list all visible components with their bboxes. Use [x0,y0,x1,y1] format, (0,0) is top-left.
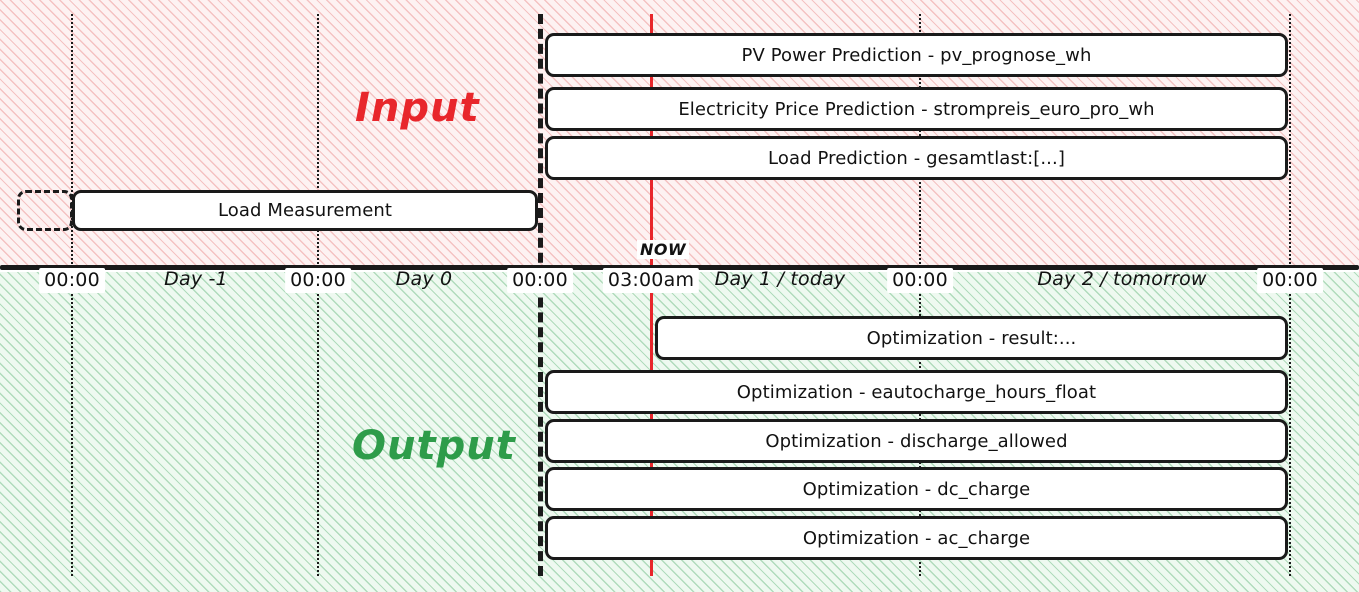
input-bar: PV Power Prediction - pv_prognose_wh [545,33,1288,77]
axis-tick-label: Day 0 [396,268,453,290]
output-bar: Optimization - discharge_allowed [545,419,1288,463]
axis-tick-label: 00:00 [285,268,351,293]
input-bar-label: Electricity Price Prediction - stromprei… [678,99,1154,120]
input-bar-label: Load Measurement [218,200,392,221]
gridline-dotted-0 [71,14,73,576]
input-bar: Load Measurement [72,190,538,231]
input-bar: Load Prediction - gesamtlast:[...] [545,136,1288,180]
now-label: NOW [637,240,689,259]
input-bar: Electricity Price Prediction - stromprei… [545,87,1288,131]
axis-tick-label: 00:00 [887,268,953,293]
axis-tick-label: 03:00am [603,268,699,293]
gridline-dotted-5 [1289,14,1291,576]
output-bar-label: Optimization - eautocharge_hours_float [737,382,1096,403]
axis-tick-label: 00:00 [39,268,105,293]
output-bar: Optimization - result:... [655,316,1288,360]
output-bar: Optimization - ac_charge [545,516,1288,560]
gridline-dotted-1 [317,14,319,576]
day-boundary-line-thick [538,14,543,576]
input-section-title: Input [355,85,480,131]
timeline-diagram: 00:00Day -100:00Day 000:0003:00amDay 1 /… [0,0,1359,592]
output-bar-label: Optimization - result:... [867,328,1077,349]
input-bar-label: PV Power Prediction - pv_prognose_wh [742,45,1092,66]
output-section-title: Output [352,423,516,469]
output-bar-label: Optimization - dc_charge [803,479,1031,500]
axis-tick-label: 00:00 [507,268,573,293]
output-bar: Optimization - dc_charge [545,467,1288,511]
output-bar: Optimization - eautocharge_hours_float [545,370,1288,414]
axis-tick-label: Day 1 / today [715,268,846,290]
axis-tick-label: Day -1 [164,268,228,290]
load-measurement-placeholder-box [17,190,73,231]
input-bar-label: Load Prediction - gesamtlast:[...] [768,148,1065,169]
axis-tick-label: Day 2 / tomorrow [1037,268,1206,290]
output-bar-label: Optimization - discharge_allowed [765,431,1067,452]
output-bar-label: Optimization - ac_charge [803,528,1030,549]
axis-tick-label: 00:00 [1257,268,1323,293]
